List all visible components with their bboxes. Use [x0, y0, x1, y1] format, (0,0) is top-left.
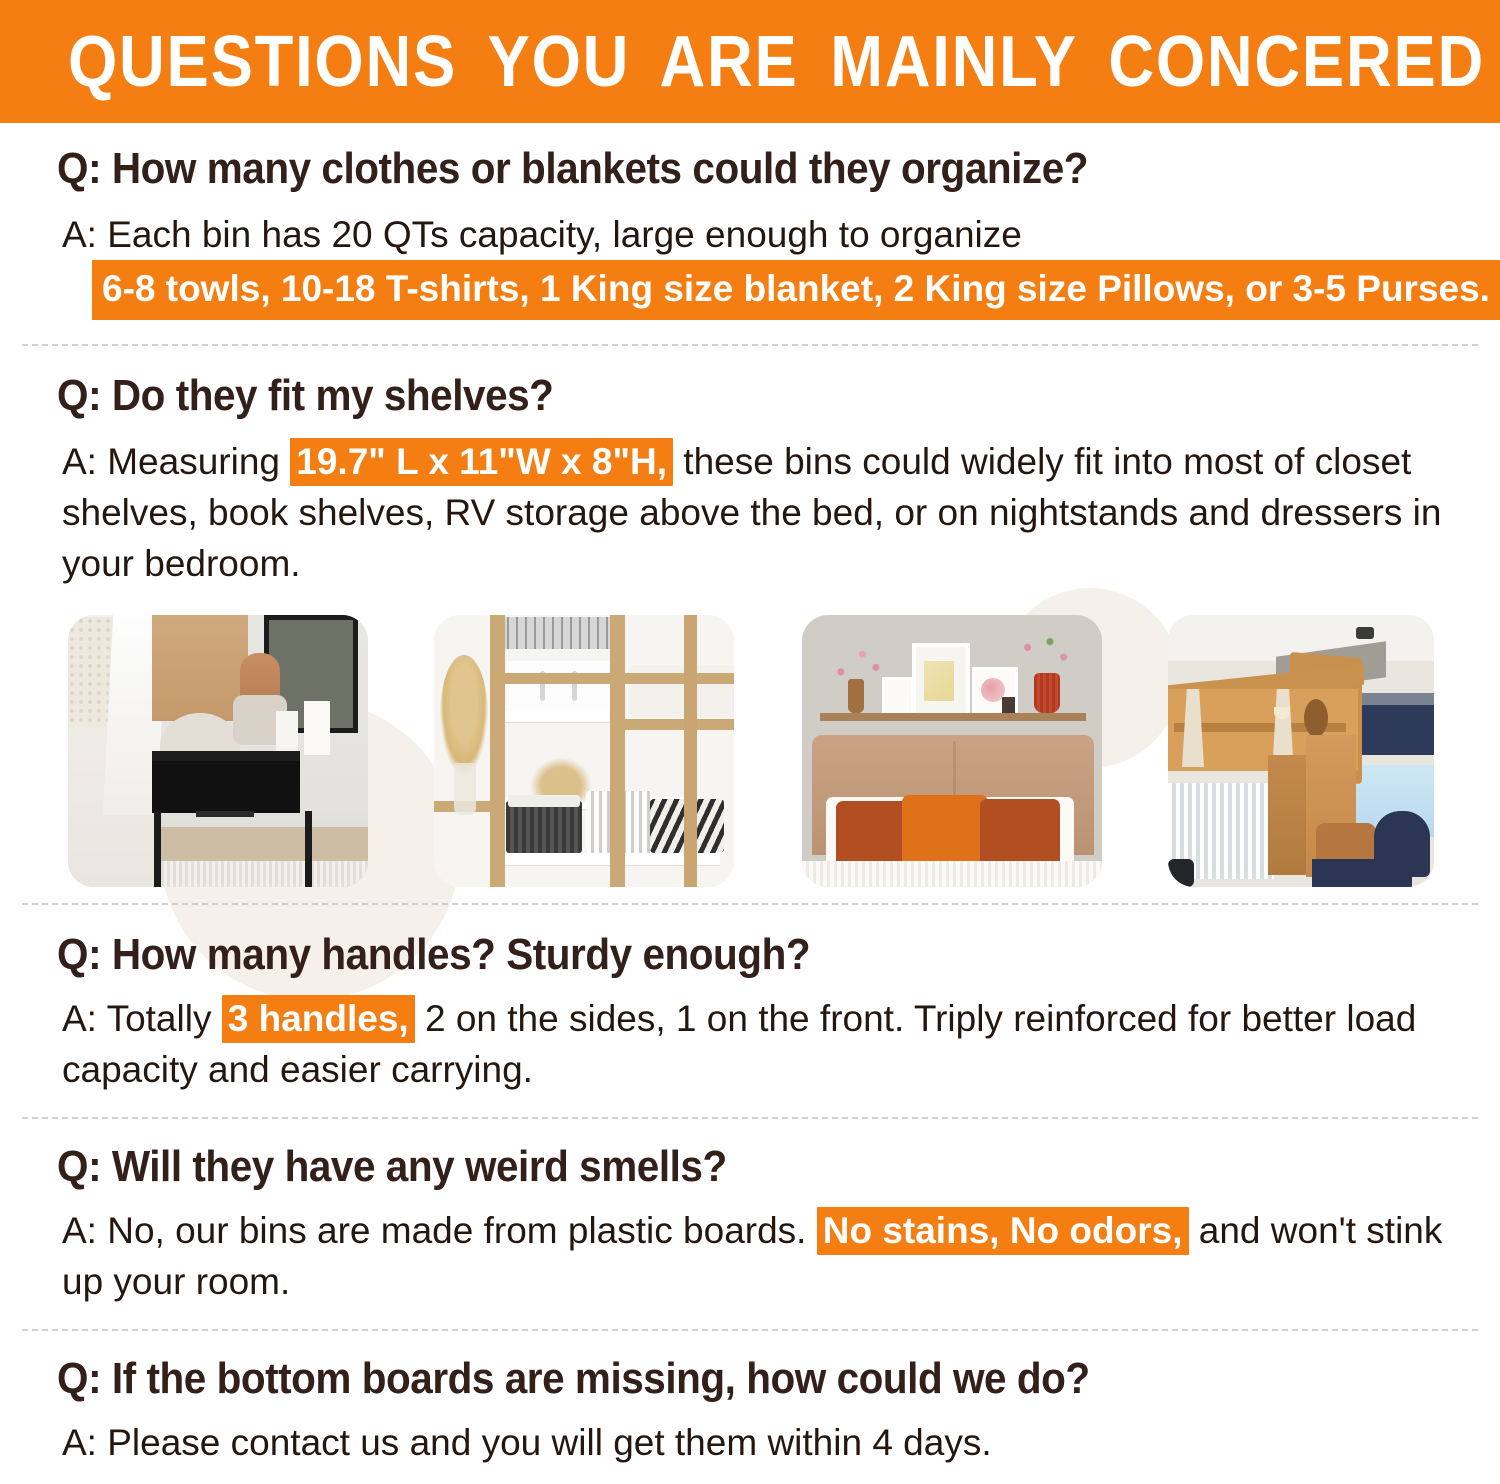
faq-infographic: QUESTIONS YOU ARE MAINLY CONCERED Q: How… — [0, 0, 1500, 1484]
divider-4 — [22, 1329, 1478, 1331]
divider-1 — [22, 344, 1478, 346]
faq-answer-3-highlight: 3 handles, — [222, 995, 415, 1043]
faq-answer-2-highlight: 19.7" L x 11"W x 8"H, — [290, 438, 673, 486]
faq-item-1: Q: How many clothes or blankets could th… — [0, 143, 1500, 320]
faq-answer-3-pre: A: Totally — [62, 998, 222, 1039]
faq-item-3: Q: How many handles? Sturdy enough? A: T… — [0, 929, 1500, 1095]
faq-answer-1-line1: A: Each bin has 20 QTs capacity, large e… — [62, 214, 1022, 255]
faq-item-4: Q: Will they have any weird smells? A: N… — [0, 1141, 1500, 1307]
faq-item-5: Q: If the bottom boards are missing, how… — [0, 1353, 1500, 1468]
faq-answer-2-pre: A: Measuring — [62, 441, 290, 482]
faq-question-3: Q: How many handles? Sturdy enough? — [0, 929, 1380, 981]
faq-answer-2: A: Measuring 19.7" L x 11"W x 8"H, these… — [0, 436, 1500, 589]
faq-answer-4-pre: A: No, our bins are made from plastic bo… — [62, 1210, 817, 1251]
product-scene-gallery — [0, 607, 1500, 897]
faq-question-4: Q: Will they have any weird smells? — [0, 1141, 1380, 1193]
gallery-image-nightstand[interactable] — [68, 615, 368, 887]
gallery-image-rv-interior[interactable] — [1168, 615, 1434, 887]
faq-answer-4: A: No, our bins are made from plastic bo… — [0, 1205, 1500, 1307]
faq-list: Q: How many clothes or blankets could th… — [0, 123, 1500, 1468]
gallery-image-bedroom[interactable] — [802, 615, 1102, 887]
header-banner: QUESTIONS YOU ARE MAINLY CONCERED — [0, 0, 1500, 123]
faq-answer-3: A: Totally 3 handles, 2 on the sides, 1 … — [0, 993, 1500, 1095]
faq-item-2: Q: Do they fit my shelves? A: Measuring … — [0, 370, 1500, 589]
divider-3 — [22, 1117, 1478, 1119]
faq-answer-1-highlight: 6-8 towls, 10-18 T-shirts, 1 King size b… — [92, 260, 1500, 320]
divider-2 — [22, 903, 1478, 905]
gallery-image-shelving[interactable] — [434, 615, 734, 887]
faq-question-2: Q: Do they fit my shelves? — [0, 370, 1380, 422]
faq-answer-5: A: Please contact us and you will get th… — [0, 1417, 1500, 1468]
faq-question-5: Q: If the bottom boards are missing, how… — [0, 1353, 1380, 1405]
page-title: QUESTIONS YOU ARE MAINLY CONCERED — [68, 26, 1485, 98]
faq-question-1: Q: How many clothes or blankets could th… — [0, 143, 1380, 195]
faq-answer-4-highlight: No stains, No odors, — [817, 1207, 1189, 1255]
faq-answer-1: A: Each bin has 20 QTs capacity, large e… — [0, 209, 1500, 320]
